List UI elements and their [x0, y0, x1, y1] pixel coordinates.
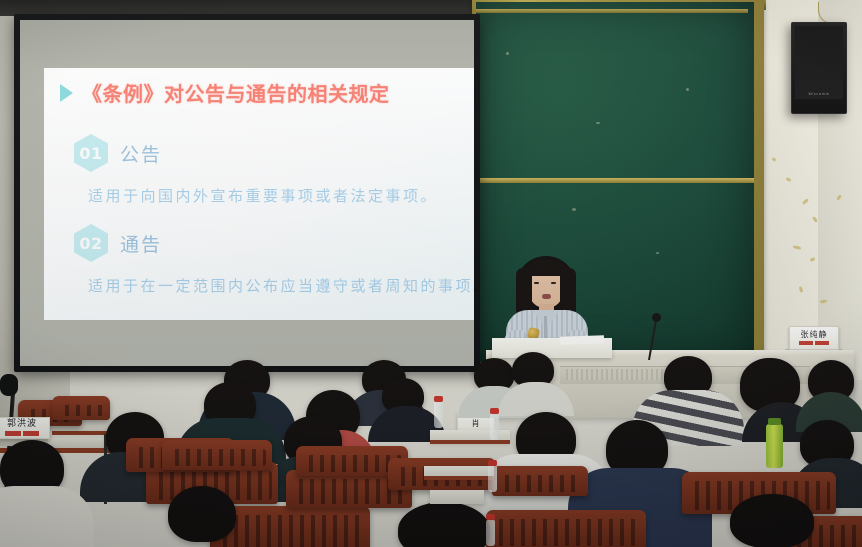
- speaker-stand-head: [0, 374, 18, 396]
- nameplate-middle-name: 肖: [472, 418, 481, 429]
- bottle-cap-icon: [434, 396, 443, 402]
- water-bottle: [490, 414, 499, 440]
- chalk-tray-rail: [476, 178, 754, 183]
- projection-screen: 《条例》对公告与通告的相关规定 01 公告 适用于向国内外宣布重要事项或者法定事…: [20, 20, 474, 366]
- nameplate-right-accent: [799, 341, 829, 345]
- slide-item-01-heading: 公告: [120, 140, 162, 167]
- chair-slats: [168, 449, 266, 466]
- bottle-cap-icon: [490, 408, 499, 414]
- slide-title: 《条例》对公告与通告的相关规定: [82, 78, 390, 107]
- presenter-eye-right: [551, 282, 556, 284]
- bottle-cap-icon: [488, 460, 497, 466]
- lecture-hall-scene: Wiscomm 张纯静 《条例》对公告与通告的相关规定 01 公告 适用于向国: [0, 0, 862, 547]
- chair-slats: [216, 515, 364, 547]
- slide-item-02-head: 02 通告: [74, 224, 474, 262]
- slide-item-01-body: 适用于向国内外宣布重要事项或者法定事项。: [88, 185, 438, 206]
- nameplate-right: 张纯静: [789, 326, 839, 350]
- presenter-eye-left: [534, 282, 539, 284]
- slide-item-02-number: 02: [79, 234, 102, 253]
- slide-item-01-number: 01: [79, 144, 102, 163]
- chalkboard-upper-rail: [476, 9, 748, 13]
- presentation-slide: 《条例》对公告与通告的相关规定 01 公告 适用于向国内外宣布重要事项或者法定事…: [44, 68, 474, 320]
- chalk-mark: [506, 52, 509, 55]
- slide-title-row: 《条例》对公告与通告的相关规定: [60, 78, 390, 107]
- chair-slats: [302, 455, 402, 472]
- audience-desk: [430, 490, 484, 504]
- nameplate-left-name: 郭洪波: [7, 420, 37, 429]
- speaker-brand-label: Wiscomm: [792, 92, 846, 96]
- chair-slats: [498, 475, 582, 492]
- bottle-cap-icon: [486, 514, 495, 520]
- nameplate-left: 郭洪波: [0, 417, 50, 439]
- slide-item-01-head: 01 公告: [74, 134, 438, 172]
- audience-chair: [486, 510, 646, 547]
- hexagon-badge-icon: 02: [74, 224, 108, 262]
- audience-desk-edge: [424, 476, 494, 480]
- attendee-shoulders: [0, 486, 94, 547]
- water-bottle: [434, 402, 443, 428]
- chair-slats: [492, 519, 640, 546]
- triangle-right-icon: [60, 84, 73, 102]
- chalk-mark: [596, 122, 600, 124]
- audience-chair: [162, 440, 272, 470]
- chalk-mark: [656, 252, 659, 254]
- water-bottle: [486, 520, 495, 546]
- loudspeaker-icon: Wiscomm: [791, 22, 847, 114]
- attendee-head-front: [168, 486, 236, 542]
- attendee-head-front: [730, 494, 814, 547]
- audience-chair: [492, 466, 588, 496]
- chalk-mark: [686, 88, 689, 91]
- side-chair: [52, 396, 110, 420]
- chair-slats: [58, 405, 104, 416]
- water-bottle: [488, 466, 497, 492]
- slide-item-02-body: 适用于在一定范围内公布应当遵守或者周知的事项。: [88, 275, 474, 296]
- nameplate-right-name: 张纯静: [801, 331, 828, 339]
- bottle-cap: [768, 418, 781, 425]
- green-tea-bottle: [766, 424, 783, 468]
- audience-desk-edge: [430, 440, 510, 444]
- slide-item-01: 01 公告 适用于向国内外宣布重要事项或者法定事项。: [74, 134, 438, 206]
- paper-sheet: [560, 335, 604, 345]
- chalk-mark: [572, 208, 576, 211]
- nameplate-left-accent: [5, 431, 39, 436]
- microphone-icon: [652, 313, 661, 322]
- hexagon-badge-icon: 01: [74, 134, 108, 172]
- speaker-grill: [795, 26, 843, 99]
- presenter-mouth: [542, 294, 551, 299]
- slide-item-02: 02 通告 适用于在一定范围内公布应当遵守或者周知的事项。: [74, 224, 474, 296]
- slide-item-02-heading: 通告: [120, 230, 162, 257]
